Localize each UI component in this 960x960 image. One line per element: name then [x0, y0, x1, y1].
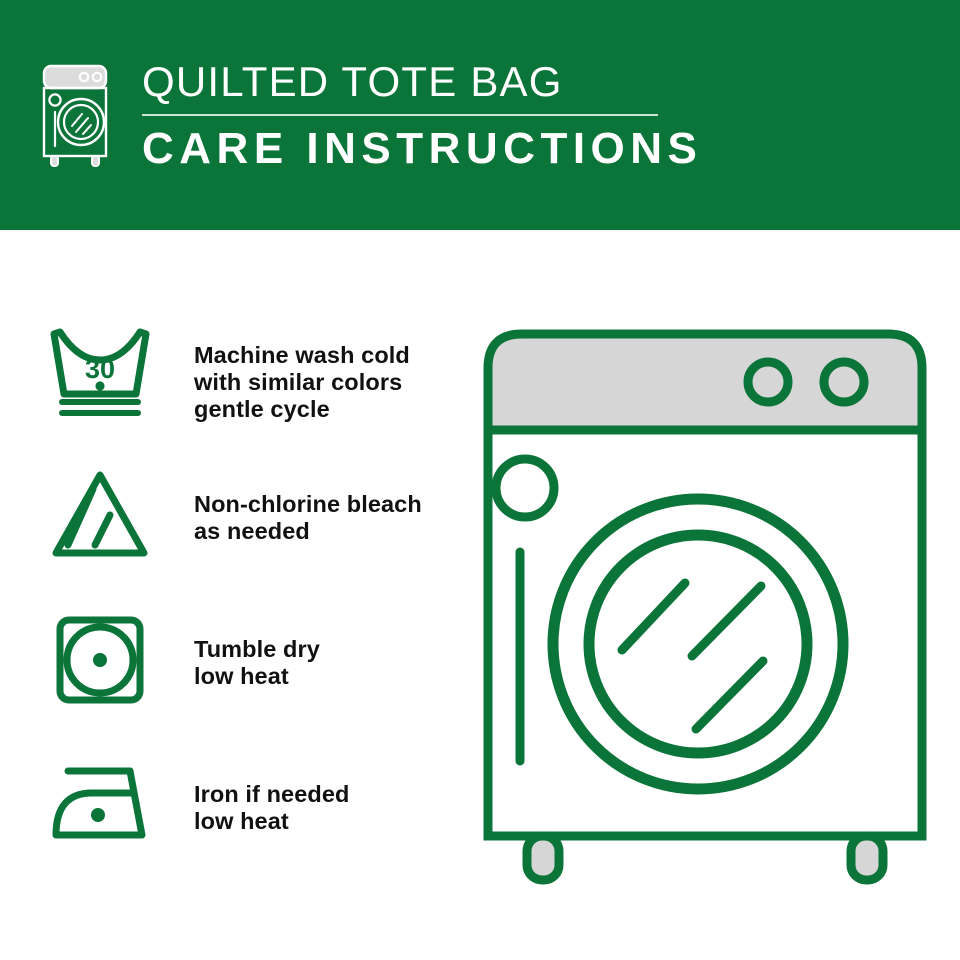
instruction-text-bleach: Non-chlorine bleach as needed [194, 465, 422, 545]
instruction-text-iron: Iron if needed low heat [194, 755, 349, 835]
care-instruction-list: 30 Machine wash cold with similar colors… [0, 320, 470, 900]
instruction-text-dry: Tumble dry low heat [194, 610, 320, 690]
instruction-line: low heat [194, 808, 349, 835]
control-panel [488, 334, 922, 430]
instruction-line: gentle cycle [194, 396, 410, 423]
list-item: Non-chlorine bleach as needed [0, 465, 470, 610]
washing-machine-icon [38, 62, 116, 170]
page-subtitle: CARE INSTRUCTIONS [142, 124, 662, 174]
title-divider [142, 114, 658, 116]
list-item: Iron if needed low heat [0, 755, 470, 900]
instruction-line: Tumble dry [194, 636, 320, 663]
machine-wash-30-gentle-icon: 30 [46, 320, 154, 420]
leg-right [851, 836, 883, 880]
front-load-washing-machine-illustration [470, 320, 940, 900]
symbol-wrapper: 30 [44, 320, 156, 420]
list-item: Tumble dry low heat [0, 610, 470, 755]
header-banner: QUILTED TOTE BAG CARE INSTRUCTIONS [0, 0, 960, 230]
iron-low-heat-icon [46, 755, 154, 855]
instruction-line: Machine wash cold [194, 342, 410, 369]
symbol-wrapper [44, 610, 156, 710]
header-content: QUILTED TOTE BAG CARE INSTRUCTIONS [38, 58, 662, 174]
instruction-text-wash: Machine wash cold with similar colors ge… [194, 320, 410, 423]
leg-left [527, 836, 559, 880]
wash-temperature-label: 30 [85, 354, 115, 384]
symbol-wrapper [44, 465, 156, 565]
instruction-line: low heat [194, 663, 320, 690]
instruction-line: Iron if needed [194, 781, 349, 808]
header-title-group: QUILTED TOTE BAG CARE INSTRUCTIONS [142, 58, 662, 174]
list-item: 30 Machine wash cold with similar colors… [0, 320, 470, 465]
symbol-wrapper [44, 755, 156, 855]
page-title: QUILTED TOTE BAG [142, 58, 662, 106]
instruction-line: as needed [194, 518, 422, 545]
instruction-line: Non-chlorine bleach [194, 491, 422, 518]
non-chlorine-bleach-icon [46, 465, 154, 565]
tumble-dry-low-icon [46, 610, 154, 710]
instruction-line: with similar colors [194, 369, 410, 396]
